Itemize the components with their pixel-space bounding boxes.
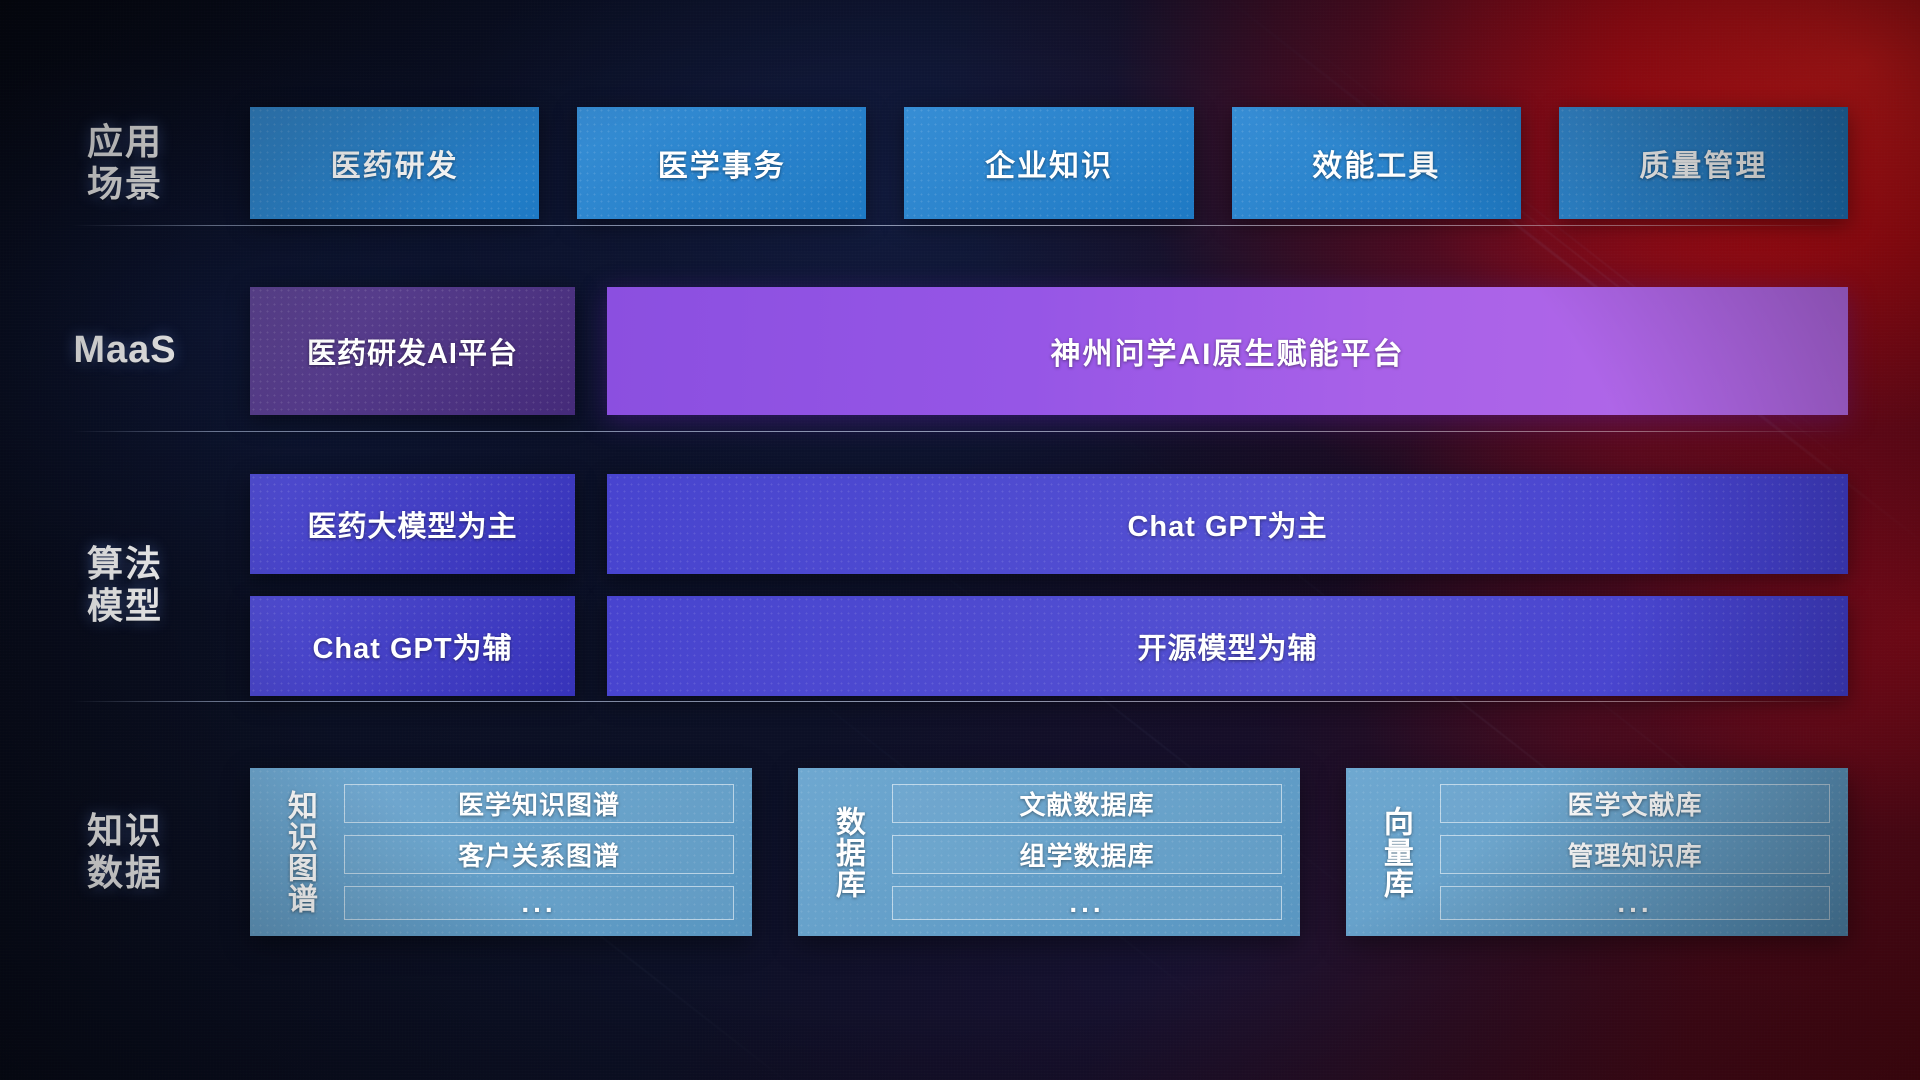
- maas-card-list: 医药研发AI平台 神州问学AI原生赋能平台: [250, 287, 1920, 415]
- row-algorithm-models: 算法 模型 医药大模型为主 Chat GPT为主 Chat GPT为辅 开源模型…: [0, 460, 1920, 710]
- vector-store-item-medical-literature[interactable]: 医学文献库: [1440, 784, 1830, 823]
- knowledge-group-title-database: 数据库: [816, 784, 878, 920]
- algo-card-opensource-secondary[interactable]: 开源模型为辅: [607, 596, 1848, 696]
- divider-apps-maas: [72, 225, 1848, 226]
- database-item-omics-db[interactable]: 组学数据库: [892, 835, 1282, 874]
- row-label-maas: MaaS: [0, 328, 250, 372]
- knowledge-item-more[interactable]: ...: [344, 886, 734, 920]
- knowledge-item-list: 医学知识图谱 客户关系图谱 ...: [344, 784, 734, 920]
- knowledge-group-knowledge-graph[interactable]: 知识图谱 医学知识图谱 客户关系图谱 ...: [250, 768, 752, 936]
- maas-card-drug-rd-ai-platform[interactable]: 医药研发AI平台: [250, 287, 575, 415]
- database-item-literature-db[interactable]: 文献数据库: [892, 784, 1282, 823]
- divider-algo-data: [72, 701, 1848, 702]
- app-card-drug-rd[interactable]: 医药研发: [250, 107, 539, 219]
- algorithm-row-primary: 医药大模型为主 Chat GPT为主: [250, 474, 1848, 574]
- app-card-quality-management[interactable]: 质量管理: [1559, 107, 1848, 219]
- row-maas: MaaS 医药研发AI平台 神州问学AI原生赋能平台: [0, 283, 1920, 418]
- database-item-list: 文献数据库 组学数据库 ...: [892, 784, 1282, 920]
- algo-card-pharma-llm-primary[interactable]: 医药大模型为主: [250, 474, 575, 574]
- knowledge-group-title-knowledge-graph: 知识图谱: [268, 784, 330, 920]
- app-card-medical-affairs[interactable]: 医学事务: [577, 107, 866, 219]
- algorithm-card-list: 医药大模型为主 Chat GPT为主 Chat GPT为辅 开源模型为辅: [250, 474, 1920, 696]
- row-label-algorithm-models: 算法 模型: [0, 543, 250, 627]
- row-knowledge-data: 知识 数据 知识图谱 医学知识图谱 客户关系图谱 ... 数据库 文献数据库 组…: [0, 728, 1920, 976]
- database-item-more[interactable]: ...: [892, 886, 1282, 920]
- app-card-efficiency-tools[interactable]: 效能工具: [1232, 107, 1521, 219]
- architecture-diagram: 应用 场景 医药研发 医学事务 企业知识 效能工具 质量管理 MaaS 医药研发…: [0, 0, 1920, 1080]
- vector-store-item-list: 医学文献库 管理知识库 ...: [1440, 784, 1830, 920]
- maas-card-shenzhou-wenxue-platform[interactable]: 神州问学AI原生赋能平台: [607, 287, 1848, 415]
- slide-canvas: 应用 场景 医药研发 医学事务 企业知识 效能工具 质量管理 MaaS 医药研发…: [0, 0, 1920, 1080]
- algorithm-row-secondary: Chat GPT为辅 开源模型为辅: [250, 596, 1848, 696]
- app-card-enterprise-knowledge[interactable]: 企业知识: [904, 107, 1193, 219]
- vector-store-item-management-knowledge[interactable]: 管理知识库: [1440, 835, 1830, 874]
- knowledge-item-medical-knowledge-graph[interactable]: 医学知识图谱: [344, 784, 734, 823]
- row-application-scenarios: 应用 场景 医药研发 医学事务 企业知识 效能工具 质量管理: [0, 100, 1920, 225]
- application-card-list: 医药研发 医学事务 企业知识 效能工具 质量管理: [250, 107, 1920, 219]
- knowledge-group-vector-store[interactable]: 向量库 医学文献库 管理知识库 ...: [1346, 768, 1848, 936]
- knowledge-group-title-vector-store: 向量库: [1364, 784, 1426, 920]
- knowledge-group-database[interactable]: 数据库 文献数据库 组学数据库 ...: [798, 768, 1300, 936]
- row-label-knowledge-data: 知识 数据: [0, 810, 250, 894]
- vector-store-item-more[interactable]: ...: [1440, 886, 1830, 920]
- algo-card-chatgpt-secondary[interactable]: Chat GPT为辅: [250, 596, 575, 696]
- divider-maas-algo: [72, 431, 1848, 432]
- knowledge-item-customer-relation-graph[interactable]: 客户关系图谱: [344, 835, 734, 874]
- algo-card-chatgpt-primary[interactable]: Chat GPT为主: [607, 474, 1848, 574]
- row-label-application-scenarios: 应用 场景: [0, 121, 250, 205]
- knowledge-group-list: 知识图谱 医学知识图谱 客户关系图谱 ... 数据库 文献数据库 组学数据库 .…: [250, 768, 1920, 936]
